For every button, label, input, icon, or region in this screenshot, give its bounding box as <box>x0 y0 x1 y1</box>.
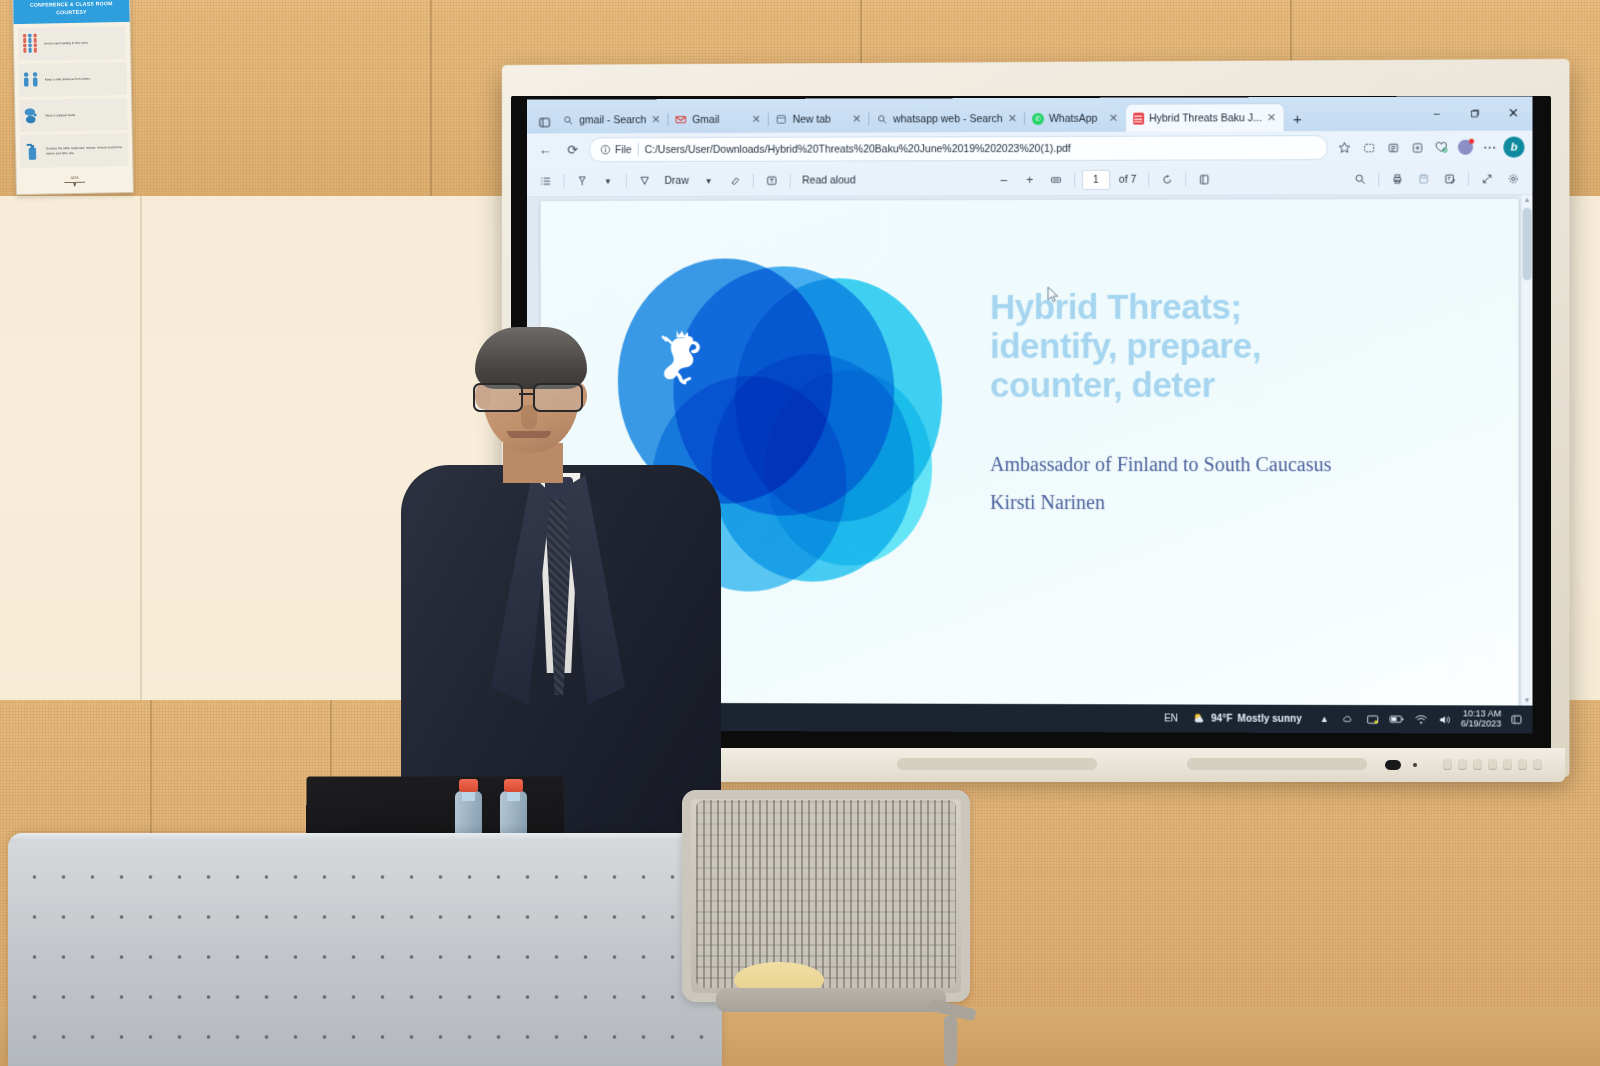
search-icon <box>562 114 574 126</box>
display-control-buttons[interactable] <box>1443 759 1542 770</box>
tab-separator <box>1024 112 1025 125</box>
wall-seam <box>430 0 432 210</box>
poster-footer-rule <box>63 179 87 187</box>
slide-title: Hybrid Threats; identify, prepare, count… <box>990 287 1512 405</box>
close-icon[interactable]: ✕ <box>651 113 660 126</box>
browser-tab-new-tab[interactable]: New tab ✕ <box>769 106 869 133</box>
display-key[interactable] <box>1473 759 1482 770</box>
add-collection-icon[interactable] <box>1405 136 1428 159</box>
wifi-icon[interactable] <box>1412 711 1429 728</box>
glasses-bridge <box>519 393 533 395</box>
display-key[interactable] <box>1458 759 1467 770</box>
bing-logo: b <box>1503 137 1524 158</box>
toolbar-divider <box>1378 172 1379 186</box>
conference-courtesy-poster: CONFERENCE & CLASS ROOM COURTESY Avoid o… <box>12 0 134 195</box>
address-bar[interactable]: File C:/Users/User/Downloads/Hybrid%20Th… <box>589 135 1328 162</box>
display-key[interactable] <box>1488 759 1497 770</box>
gmail-icon <box>675 114 687 126</box>
star-icon[interactable] <box>1333 136 1356 159</box>
poster-footer: ADA <box>16 168 132 194</box>
page-view-icon[interactable] <box>1194 169 1216 191</box>
zoom-out-button[interactable]: – <box>993 169 1015 191</box>
file-label: File <box>615 144 632 156</box>
chair-frame <box>682 790 970 1002</box>
highlight-icon[interactable] <box>571 170 593 192</box>
poster-row-text: Wear a surgical mask <box>45 113 75 118</box>
display-key[interactable] <box>1503 759 1512 770</box>
split-screen-icon[interactable] <box>1357 136 1380 159</box>
eyeglasses <box>473 383 589 409</box>
podium-perforations <box>20 857 710 1066</box>
tab-strip[interactable]: gmail - Search ✕ Gmail ✕ New t <box>555 97 1417 134</box>
podium-top-rim <box>8 833 722 842</box>
tab-label: Hybrid Threats Baku J... <box>1149 112 1262 124</box>
tab-actions-icon[interactable] <box>533 111 556 134</box>
new-tab-button[interactable]: + <box>1284 107 1310 131</box>
close-icon[interactable]: ✕ <box>1267 111 1276 124</box>
poster-row-text: Avoid overcrowding in this room <box>44 41 88 46</box>
draw-chevron-icon[interactable]: ▼ <box>698 170 720 192</box>
draw-icon[interactable] <box>634 170 656 192</box>
tab-label: New tab <box>793 113 848 125</box>
pdf-scrollbar[interactable]: ▲ ▼ <box>1522 195 1533 707</box>
refresh-button[interactable]: ⟳ <box>561 138 584 161</box>
annotate-icon[interactable] <box>1439 168 1461 190</box>
chair-leg <box>944 1016 957 1066</box>
browser-tab-gmail[interactable]: Gmail ✕ <box>668 106 767 133</box>
profile-icon[interactable] <box>1454 136 1477 159</box>
display-indicator-led <box>1413 763 1417 767</box>
newtab-icon <box>776 113 788 125</box>
presenter-person <box>395 325 725 845</box>
distance-icon <box>20 67 40 93</box>
display-key[interactable] <box>1533 759 1542 770</box>
hair <box>475 327 587 389</box>
mouth <box>507 431 551 438</box>
toolbar-divider <box>563 174 564 188</box>
battery-icon[interactable] <box>1388 711 1405 728</box>
mesh-office-chair <box>676 772 976 1066</box>
weather-widget[interactable]: 94°F Mostly sunny <box>1185 704 1309 732</box>
bing-chat-icon[interactable]: b <box>1502 136 1525 159</box>
sanitizer-icon <box>22 138 42 164</box>
lens-left <box>473 383 523 412</box>
window-controls[interactable]: – ✕ <box>1418 96 1533 131</box>
speaker-grille <box>1187 758 1367 770</box>
poster-row: Avoid overcrowding in this room <box>18 26 127 61</box>
toolbar-divider <box>1468 172 1469 186</box>
slide-title-line-1: Hybrid Threats; <box>990 287 1512 327</box>
browser-tab-gmail-search[interactable]: gmail - Search ✕ <box>555 106 667 133</box>
minimize-button[interactable]: – <box>1418 99 1456 129</box>
tab-label: Gmail <box>692 113 746 125</box>
browser-tab-whatsapp-search[interactable]: whatsapp web - Search ✕ <box>869 105 1024 132</box>
clock-date: 6/19/2023 <box>1461 719 1501 729</box>
chair-seat <box>716 988 946 1012</box>
tab-separator <box>667 113 668 126</box>
browser-tab-whatsapp[interactable]: ✆ WhatsApp ✕ <box>1025 105 1125 132</box>
slide-title-line-3: counter, deter <box>990 366 1512 405</box>
crowd-icon <box>20 31 40 57</box>
read-aloud-button[interactable]: Read aloud <box>797 174 860 186</box>
slide-title-line-2: identify, prepare, <box>990 327 1512 367</box>
slide-subtitle-role: Ambassador of Finland to South Caucasus <box>990 454 1331 477</box>
close-button[interactable]: ✕ <box>1494 98 1532 128</box>
tab-separator <box>868 113 869 126</box>
lens-right <box>533 383 583 412</box>
weather-description: Mostly sunny <box>1237 713 1301 724</box>
browser-tab-hybrid-threats-pdf[interactable]: Hybrid Threats Baku J... ✕ <box>1126 104 1283 132</box>
page-total-label: of 7 <box>1114 174 1142 186</box>
search-icon[interactable] <box>1349 168 1371 190</box>
taskbar-clock[interactable]: 10:13 AM 6/19/2023 <box>1461 709 1507 729</box>
toolbar-divider <box>789 174 790 188</box>
close-icon[interactable]: ✕ <box>1109 112 1118 125</box>
omnibox-divider <box>638 143 639 156</box>
conference-room-scene: CONFERENCE & CLASS ROOM COURTESY Avoid o… <box>0 0 1600 1066</box>
settings-icon[interactable] <box>1502 168 1524 190</box>
back-button[interactable]: ← <box>534 138 557 161</box>
browser-titlebar: gmail - Search ✕ Gmail ✕ New t <box>527 96 1533 133</box>
system-tray[interactable]: ▲ <box>1309 705 1461 734</box>
bottle-cap <box>459 779 478 792</box>
erase-icon[interactable] <box>724 170 746 192</box>
language-indicator[interactable]: EN <box>1157 704 1185 732</box>
draw-label[interactable]: Draw <box>660 175 694 187</box>
mask-icon <box>21 103 41 129</box>
chevron-down-icon[interactable]: ▼ <box>597 170 619 192</box>
perforated-metal-podium <box>8 833 722 1066</box>
poster-row: Sanitize the table, keyboard, mouse, rem… <box>20 133 129 168</box>
bottle-cap <box>504 779 523 792</box>
print-icon[interactable] <box>1386 168 1408 190</box>
scroll-up-icon[interactable]: ▲ <box>1523 196 1532 205</box>
pdf-toolbar[interactable]: ▼ Draw ▼ Read aloud – + 1 of 7 <box>527 164 1533 198</box>
display-key[interactable] <box>1518 759 1527 770</box>
weather-temperature: 94°F <box>1211 713 1232 724</box>
poster-rows: Avoid overcrowding in this room Keep a s… <box>14 22 133 170</box>
zoom-in-button[interactable]: + <box>1019 169 1041 191</box>
display-camera <box>1385 760 1401 770</box>
tab-label: WhatsApp <box>1049 112 1104 124</box>
address-bar-url: C:/Users/User/Downloads/Hybrid%20Threats… <box>645 142 1071 155</box>
pdf-icon <box>1133 112 1144 124</box>
save-icon[interactable] <box>1413 168 1435 190</box>
logo-circle <box>765 370 932 566</box>
onedrive-icon[interactable] <box>1340 710 1357 727</box>
search-icon <box>876 113 888 125</box>
text-icon[interactable] <box>760 170 782 192</box>
poster-row: Wear a surgical mask <box>19 97 128 132</box>
close-icon[interactable]: ✕ <box>1008 112 1017 125</box>
poster-row-text: Keep a safe distance from others <box>45 77 90 82</box>
info-icon <box>600 144 611 155</box>
chevron-up-icon[interactable]: ▲ <box>1316 710 1333 727</box>
display-cast-icon[interactable] <box>1364 711 1381 728</box>
toolbar-divider <box>1186 173 1187 187</box>
toolbar-divider <box>1149 173 1150 187</box>
browser-essentials-icon[interactable] <box>1430 136 1453 159</box>
toolbar-divider <box>752 174 753 188</box>
toolbar-divider <box>1074 173 1075 187</box>
poster-row-text: Sanitize the table, keyboard, mouse, rem… <box>46 145 126 155</box>
notification-icon[interactable] <box>1507 711 1524 728</box>
close-icon[interactable]: ✕ <box>752 113 761 126</box>
volume-icon[interactable] <box>1437 711 1454 728</box>
partly-sunny-icon <box>1192 712 1206 726</box>
tab-separator <box>768 113 769 126</box>
table-of-contents-icon[interactable] <box>535 170 557 192</box>
tab-label: gmail - Search <box>579 114 646 126</box>
settings-more-icon[interactable]: ⋯ <box>1478 136 1501 159</box>
speaker-grille <box>897 758 1097 770</box>
slide-subtitle-name: Kirsti Narinen <box>990 492 1105 515</box>
scroll-down-icon[interactable]: ▼ <box>1523 696 1532 705</box>
poster-row: Keep a safe distance from others <box>18 62 127 97</box>
display-key[interactable] <box>1443 759 1452 770</box>
rotate-icon[interactable] <box>1157 169 1179 191</box>
maximize-button[interactable] <box>1456 98 1494 128</box>
file-protocol-indicator: File <box>600 144 632 156</box>
close-icon[interactable]: ✕ <box>852 113 861 126</box>
page-number-input[interactable]: 1 <box>1082 170 1110 190</box>
mouse-cursor <box>1047 286 1059 303</box>
fit-page-icon[interactable] <box>1045 169 1067 191</box>
toolbar-divider <box>626 174 627 188</box>
avatar <box>1458 140 1473 155</box>
scrollbar-thumb[interactable] <box>1523 208 1532 280</box>
tab-label: whatsapp web - Search <box>893 113 1003 125</box>
browser-navbar: ← ⟳ File C:/Users/User/Downloads/Hybrid%… <box>527 130 1533 166</box>
poster-heading: CONFERENCE & CLASS ROOM COURTESY <box>13 0 129 24</box>
whatsapp-icon: ✆ <box>1032 112 1044 124</box>
navbar-actions[interactable]: ⋯ b <box>1333 136 1526 160</box>
collections-icon[interactable] <box>1381 136 1404 159</box>
fit-width-icon[interactable] <box>1476 168 1498 190</box>
